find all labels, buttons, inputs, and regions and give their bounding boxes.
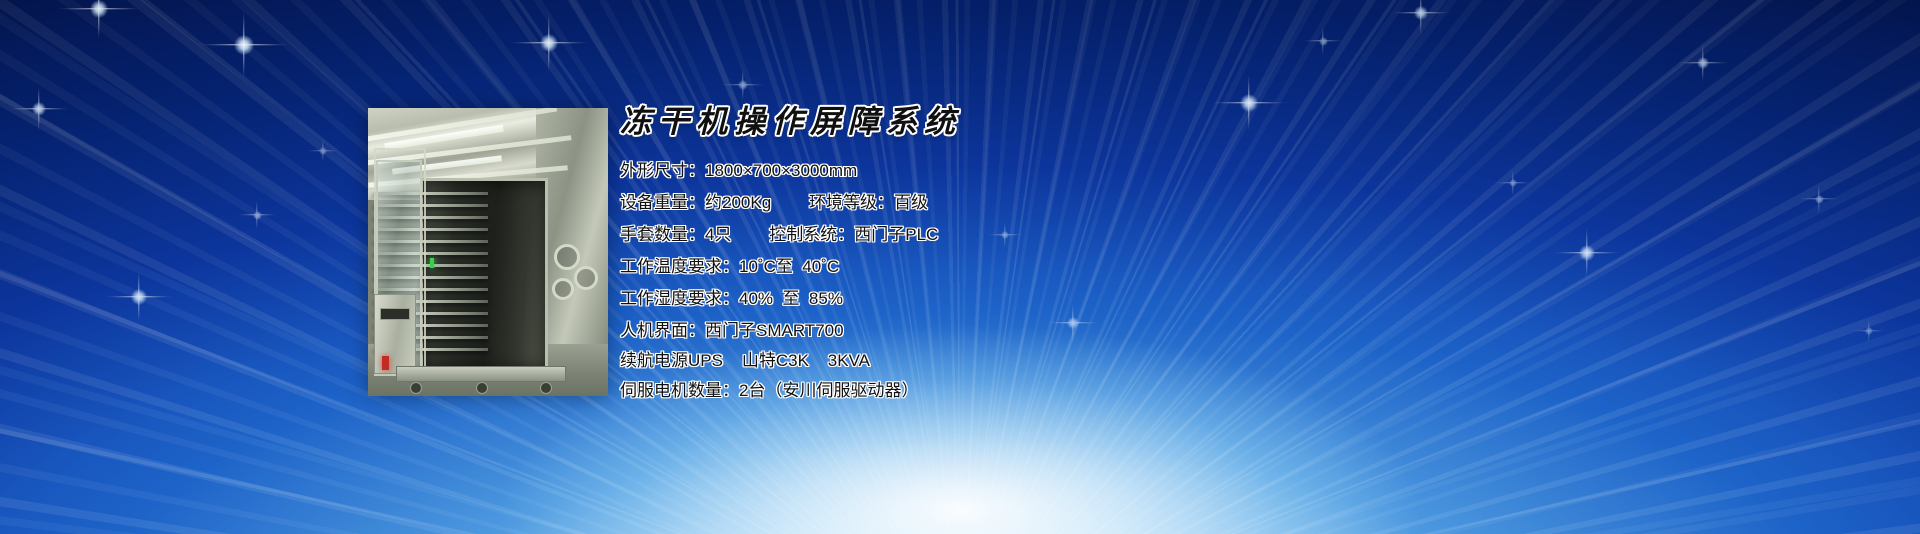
spec-line-dimensions: 外形尺寸：1800×700×3000mm: [620, 158, 1620, 184]
photo-control-panel: [380, 308, 410, 320]
photo-port: [552, 278, 574, 300]
spec-line-temperature: 工作温度要求：10˚C至 40˚C: [620, 254, 1620, 280]
product-banner: 冻干机操作屏障系统 外形尺寸：1800×700×3000mm 设备重量：约200…: [0, 0, 1920, 534]
photo-control-cabinet: [374, 294, 416, 374]
photo-port: [554, 244, 580, 270]
spec-line-gloves-control: 手套数量：4只 控制系统：西门子PLC: [620, 222, 1620, 248]
photo-port: [574, 266, 598, 290]
spec-line-weight-grade: 设备重量：约200Kg 环境等级：百级: [620, 190, 1620, 216]
photo-caster-wheel: [476, 382, 488, 394]
spec-line-servo-motor: 伺服电机数量：2台（安川伺服驱动器）: [620, 378, 1620, 404]
photo-green-indicator: [430, 258, 434, 268]
product-text-block: 冻干机操作屏障系统 外形尺寸：1800×700×3000mm 设备重量：约200…: [620, 100, 1620, 408]
spec-line-hmi: 人机界面：西门子SMART700: [620, 318, 1620, 344]
photo-red-indicator: [382, 356, 389, 370]
page-title: 冻干机操作屏障系统: [620, 100, 1620, 144]
spec-line-humidity: 工作湿度要求：40% 至 85%: [620, 286, 1620, 312]
spec-line-ups: 续航电源UPS 山特C3K 3KVA: [620, 348, 1620, 374]
photo-caster-wheel: [540, 382, 552, 394]
photo-caster-wheel: [410, 382, 422, 394]
photo-trolley-base: [396, 366, 566, 382]
product-photo: [368, 108, 608, 396]
